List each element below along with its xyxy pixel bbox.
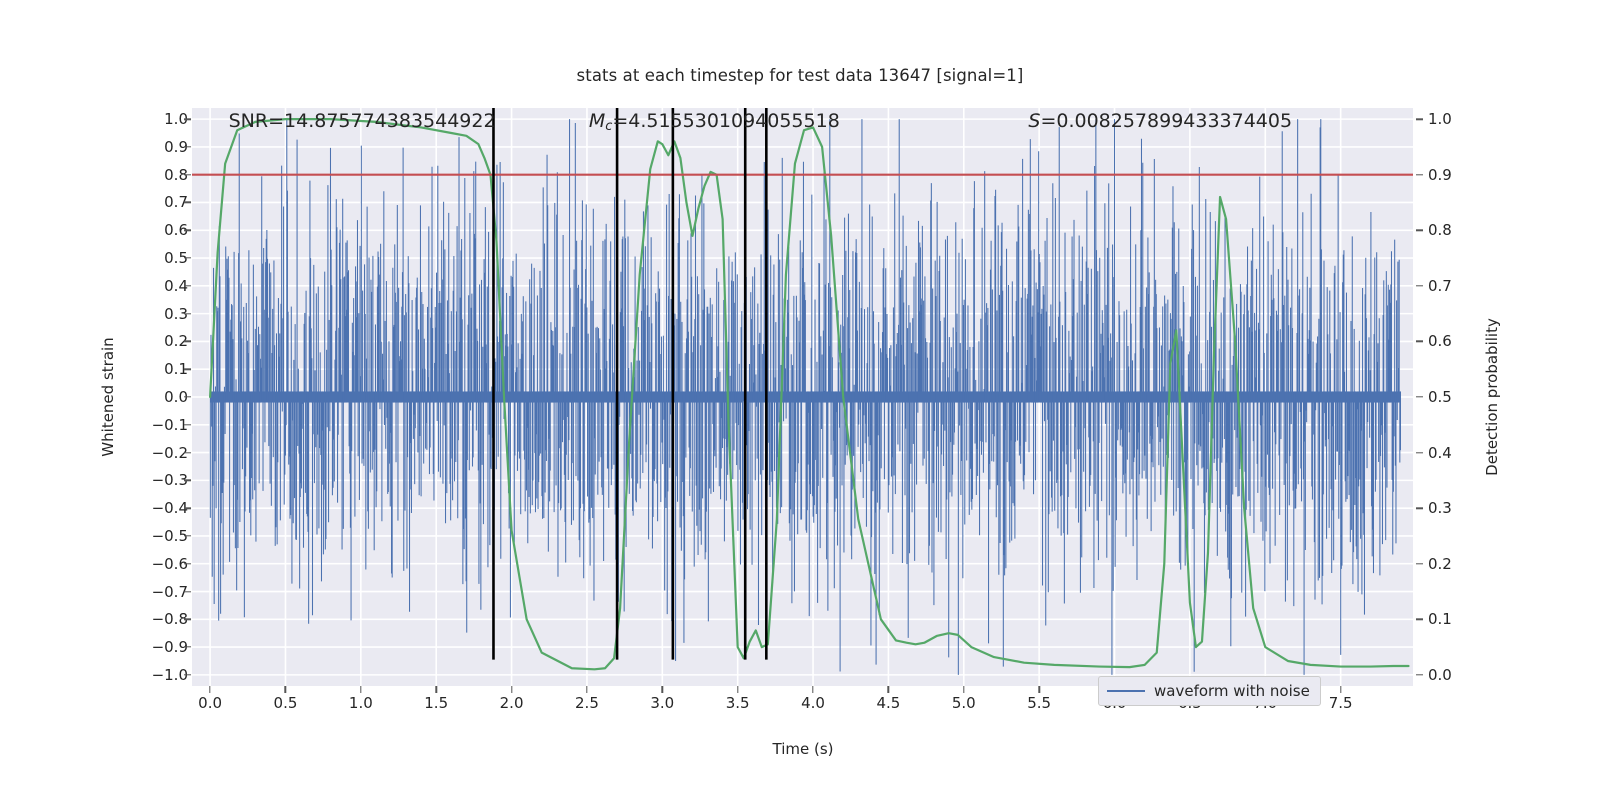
y-axis-left-tick-label: −0.7 xyxy=(152,583,188,601)
x-axis-tick-label: 2.5 xyxy=(575,694,599,712)
y-axis-right-tick-mark xyxy=(1416,341,1423,342)
x-axis-tick-mark xyxy=(1340,686,1341,693)
x-axis-tick-label: 5.5 xyxy=(1027,694,1051,712)
y-axis-right-tick-mark xyxy=(1416,563,1423,564)
y-axis-left-tick-label: −0.4 xyxy=(152,499,188,517)
y-axis-left-tick-label: −0.2 xyxy=(152,444,188,462)
y-axis-right-tick-mark xyxy=(1416,230,1423,231)
y-axis-left-tick-mark xyxy=(184,118,191,119)
x-axis-tick-mark xyxy=(812,686,813,693)
x-axis-tick-mark xyxy=(360,686,361,693)
x-axis-tick-label: 1.5 xyxy=(424,694,448,712)
y-axis-right-tick-label: 0.7 xyxy=(1428,277,1452,295)
y-axis-right-tick-mark xyxy=(1416,396,1423,397)
y-axis-left-tick-mark xyxy=(184,396,191,397)
x-axis-tick-label: 7.5 xyxy=(1329,694,1353,712)
y-axis-right-tick-label: 0.9 xyxy=(1428,166,1452,184)
x-axis-label: Time (s) xyxy=(773,740,834,758)
y-axis-left-tick-label: −0.8 xyxy=(152,610,188,628)
y-axis-right-tick-mark xyxy=(1416,507,1423,508)
y-axis-left-tick-mark xyxy=(184,646,191,647)
y-axis-left-tick-mark xyxy=(184,507,191,508)
y-axis-left-tick-mark xyxy=(184,619,191,620)
x-axis-tick-mark xyxy=(1038,686,1039,693)
y-axis-left-tick-label: −0.6 xyxy=(152,555,188,573)
x-axis-tick-mark xyxy=(285,686,286,693)
y-axis-left-label: Whitened strain xyxy=(99,337,117,456)
y-axis-right-tick-mark xyxy=(1416,285,1423,286)
y-axis-left-tick-label: −0.3 xyxy=(152,471,188,489)
y-axis-left-tick-label: −1.0 xyxy=(152,666,188,684)
page-title: stats at each timestep for test data 136… xyxy=(0,66,1600,85)
y-axis-left-tick-mark xyxy=(184,480,191,481)
y-axis-left-tick-mark xyxy=(184,369,191,370)
y-axis-right-tick-label: 0.4 xyxy=(1428,444,1452,462)
y-axis-left-tick-mark xyxy=(184,230,191,231)
y-axis-left-tick-mark xyxy=(184,313,191,314)
y-axis-right-tick-label: 0.1 xyxy=(1428,610,1452,628)
annotation-layer: SNR=14.875774383544922Mc=4.5155301094055… xyxy=(192,108,1413,686)
legend-swatch-waveform xyxy=(1107,690,1145,693)
x-axis-tick-mark xyxy=(888,686,889,693)
y-axis-left-tick-mark xyxy=(184,563,191,564)
x-axis-tick-mark xyxy=(435,686,436,693)
x-axis-tick-mark xyxy=(209,686,210,693)
y-axis-left-tick-mark xyxy=(184,257,191,258)
x-axis-tick-label: 4.5 xyxy=(876,694,900,712)
x-axis-tick-mark xyxy=(963,686,964,693)
legend-label-waveform: waveform with noise xyxy=(1154,682,1310,700)
y-axis-left-tick-mark xyxy=(184,674,191,675)
y-axis-left-tick-label: −0.5 xyxy=(152,527,188,545)
y-axis-left-tick-mark xyxy=(184,424,191,425)
legend[interactable]: waveform with noise xyxy=(1098,676,1321,706)
y-axis-right-tick-mark xyxy=(1416,619,1423,620)
x-axis-tick-mark xyxy=(511,686,512,693)
x-axis-tick-mark xyxy=(737,686,738,693)
y-axis-right-tick-label: 0.3 xyxy=(1428,499,1452,517)
x-axis-tick-mark xyxy=(662,686,663,693)
y-axis-left-tick-mark xyxy=(184,146,191,147)
y-axis-right-tick-label: 0.6 xyxy=(1428,332,1452,350)
x-axis-tick-label: 3.5 xyxy=(726,694,750,712)
y-axis-right-tick-label: 0.5 xyxy=(1428,388,1452,406)
y-axis-left-tick-mark xyxy=(184,202,191,203)
y-axis-left-tick-mark xyxy=(184,535,191,536)
y-axis-left-tick-mark xyxy=(184,452,191,453)
y-axis-left-tick-label: −0.1 xyxy=(152,416,188,434)
x-axis-tick-mark xyxy=(586,686,587,693)
y-axis-left-tick-mark xyxy=(184,285,191,286)
x-axis-tick-label: 0.5 xyxy=(274,694,298,712)
y-axis-right-tick-label: 0.8 xyxy=(1428,221,1452,239)
annotation-score: S=0.008257899433374405 xyxy=(1028,110,1292,132)
y-axis-right-tick-mark xyxy=(1416,674,1423,675)
y-axis-left-tick-label: −0.9 xyxy=(152,638,188,656)
y-axis-right-tick-mark xyxy=(1416,452,1423,453)
y-axis-right-tick-label: 0.0 xyxy=(1428,666,1452,684)
y-axis-left-tick-mark xyxy=(184,174,191,175)
y-axis-left-tick-mark xyxy=(184,341,191,342)
y-axis-left-tick-mark xyxy=(184,591,191,592)
annotation-chirp-mass: Mc=4.5155301094055518 xyxy=(589,110,840,134)
matplotlib-figure: stats at each timestep for test data 136… xyxy=(0,0,1600,800)
y-axis-right-label: Detection probability xyxy=(1483,318,1501,476)
x-axis-tick-label: 3.0 xyxy=(650,694,674,712)
y-axis-right-tick-label: 1.0 xyxy=(1428,110,1452,128)
x-axis-tick-label: 0.0 xyxy=(198,694,222,712)
x-axis-tick-label: 2.0 xyxy=(500,694,524,712)
x-axis-tick-label: 5.0 xyxy=(952,694,976,712)
plot-area: SNR=14.875774383544922Mc=4.5155301094055… xyxy=(192,108,1413,686)
x-axis-tick-label: 4.0 xyxy=(801,694,825,712)
annotation-snr: SNR=14.875774383544922 xyxy=(229,110,496,132)
y-axis-right-tick-mark xyxy=(1416,118,1423,119)
y-axis-right-tick-label: 0.2 xyxy=(1428,555,1452,573)
y-axis-right-tick-mark xyxy=(1416,174,1423,175)
x-axis-tick-label: 1.0 xyxy=(349,694,373,712)
